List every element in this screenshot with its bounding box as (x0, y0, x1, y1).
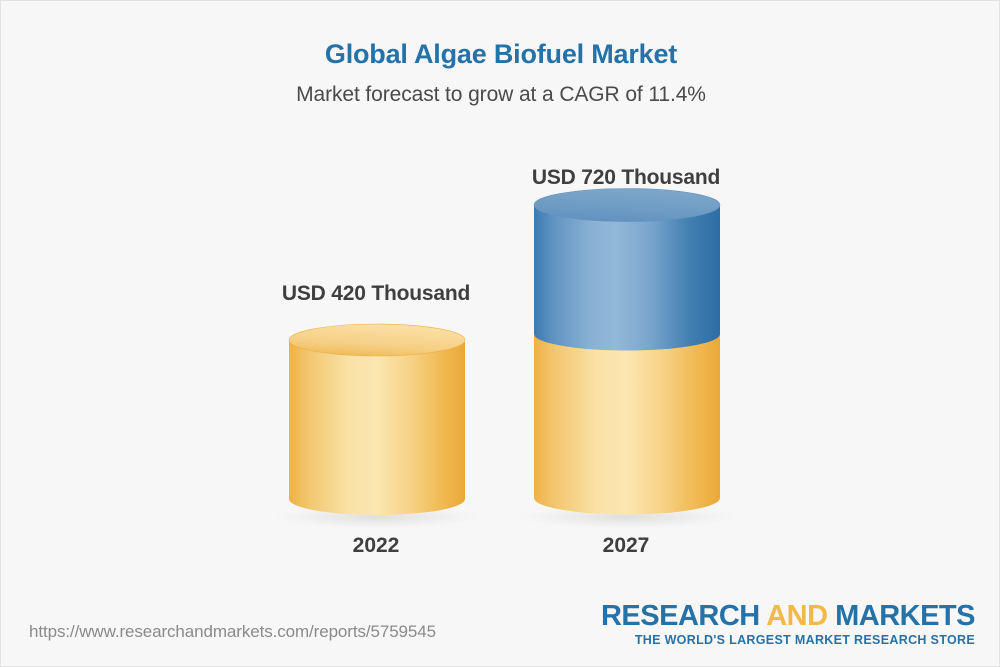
page-title: Global Algae Biofuel Market (1, 1, 1000, 70)
bar-cylinder-2022[interactable] (289, 324, 465, 515)
chart-plot-area: USD 420 Thousand USD 720 Thousand 2022 2… (1, 141, 1000, 561)
source-url[interactable]: https://www.researchandmarkets.com/repor… (29, 622, 436, 642)
header: Global Algae Biofuel Market Market forec… (1, 1, 1000, 107)
bar-value-label-2022: USD 420 Thousand (1, 282, 751, 306)
brand-logo[interactable]: RESEARCH AND MARKETS THE WORLD'S LARGEST… (601, 601, 975, 647)
category-label-2022: 2022 (276, 534, 476, 558)
logo-word-markets: MARKETS (828, 600, 975, 632)
logo-word-and: AND (766, 600, 827, 632)
logo-tagline: THE WORLD'S LARGEST MARKET RESEARCH STOR… (601, 631, 975, 647)
bar-cylinder-2027[interactable] (534, 189, 720, 515)
bar-value-label-2027: USD 720 Thousand (251, 166, 1000, 190)
logo-word-research: RESEARCH (601, 600, 766, 632)
category-label-2027: 2027 (526, 534, 726, 558)
page-subtitle: Market forecast to grow at a CAGR of 11.… (1, 70, 1000, 107)
logo-wordmark: RESEARCH AND MARKETS (601, 601, 975, 631)
cylinder-bar-chart (1, 141, 1000, 561)
infographic-card: Global Algae Biofuel Market Market forec… (0, 0, 1000, 667)
